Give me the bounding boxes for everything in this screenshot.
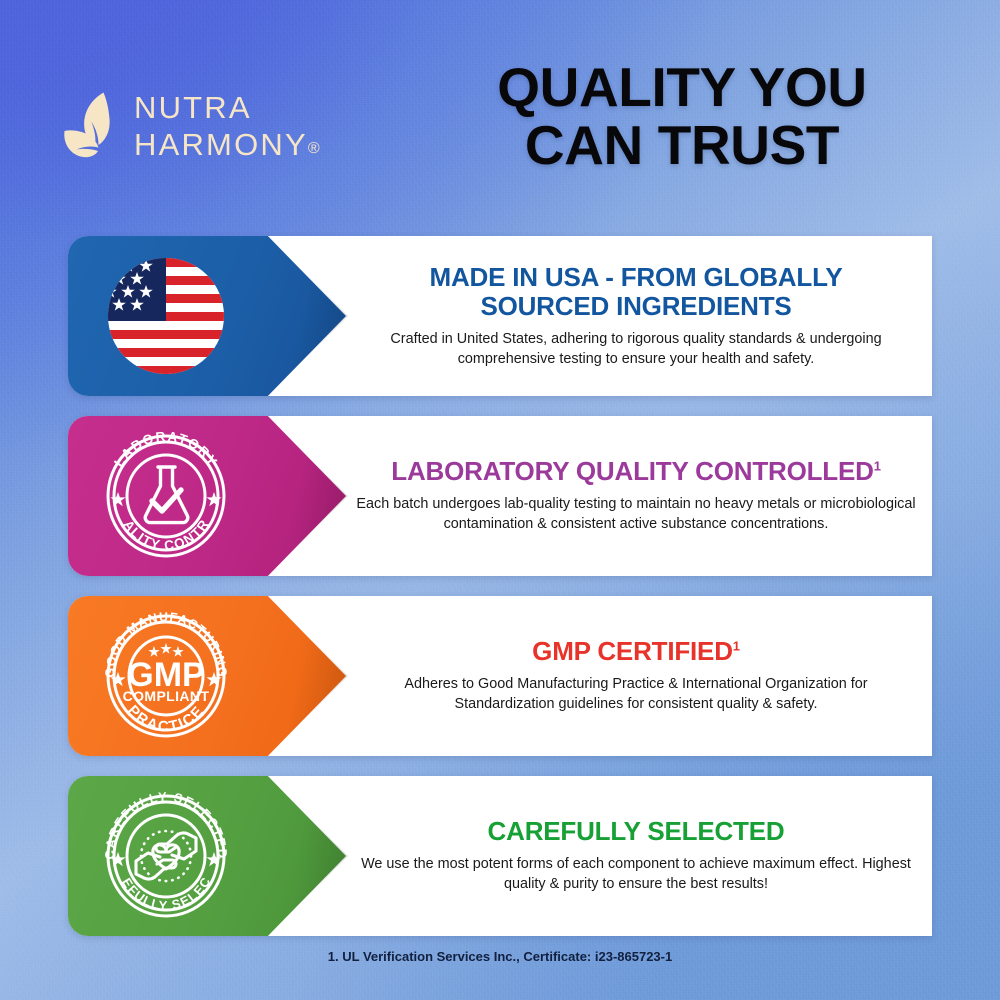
trust-card-made-in-usa: MADE IN USA - FROM GLOBALLY SOURCED INGR…: [0, 236, 1000, 396]
card-description: Each batch undergoes lab-quality testing…: [356, 495, 916, 535]
card-title: CAREFULLY SELECTED: [488, 817, 785, 846]
card-description: We use the most potent forms of each com…: [356, 855, 916, 895]
brand-wordmark: NUTRA HARMONY®: [134, 92, 320, 160]
card-description-line-1: Adheres to Good Manufacturing Practice &…: [404, 676, 867, 692]
header: NUTRA HARMONY® QUALITY YOU CAN TRUST: [0, 0, 1000, 230]
card-title: LABORATORY QUALITY CONTROLLED1: [391, 457, 880, 486]
card-text: GMP CERTIFIED1 Adheres to Good Manufactu…: [352, 596, 920, 756]
card-title-line-1: MADE IN USA - FROM GLOBALLY: [430, 262, 843, 292]
card-description-line-2: comprehensive testing to ensure your hea…: [458, 351, 815, 367]
card-description-line-1: We use the most potent forms of each com…: [361, 856, 858, 872]
card-title: GMP CERTIFIED1: [532, 637, 740, 666]
lab-seal-top-text: LABORATORY: [111, 430, 221, 470]
card-title-line-1: CAREFULLY SELECTED: [488, 816, 785, 846]
card-description: Adheres to Good Manufacturing Practice &…: [356, 675, 916, 715]
card-title: MADE IN USA - FROM GLOBALLY SOURCED INGR…: [430, 263, 843, 321]
brand-line-1: NUTRA: [134, 92, 320, 123]
leaf-icon: [62, 90, 128, 164]
card-description: Crafted in United States, adhering to ri…: [356, 330, 916, 370]
hands-heart-seal-icon: CAREFULLY SELECTED CAREFULLY SELECTED: [96, 790, 236, 922]
card-description-line-1: Crafted in United States, adhering to ri…: [390, 331, 881, 347]
trust-card-carefully-selected: CAREFULLY SELECTED CAREFULLY SELECTED CA…: [0, 776, 1000, 936]
card-title-footnote-marker: 1: [874, 458, 881, 473]
gmp-seal-bottom-text: PRACTICE: [124, 702, 208, 735]
brand-line-2: HARMONY®: [134, 129, 320, 160]
card-title-line-1: LABORATORY QUALITY CONTROLLED: [391, 456, 873, 486]
trust-card-gmp-certified: GMP COMPLIANT GOOD MANUFACTURING PRACTIC…: [0, 596, 1000, 756]
card-text: CAREFULLY SELECTED We use the most poten…: [352, 776, 920, 936]
infographic-page: NUTRA HARMONY® QUALITY YOU CAN TRUST: [0, 0, 1000, 1000]
trust-badge-list: MADE IN USA - FROM GLOBALLY SOURCED INGR…: [0, 236, 1000, 956]
trust-card-laboratory-quality-controlled: LABORATORY QUALITY CONTROL LABORATORY QU…: [0, 416, 1000, 576]
card-text: MADE IN USA - FROM GLOBALLY SOURCED INGR…: [352, 236, 920, 396]
page-title-line-2: CAN TRUST: [400, 116, 964, 174]
footnote-certificate: 1. UL Verification Services Inc., Certif…: [0, 949, 1000, 964]
page-title-line-1: QUALITY YOU: [497, 56, 866, 118]
gmp-compliant-seal-icon: GMP COMPLIANT GOOD MANUFACTURING PRACTIC…: [96, 610, 236, 742]
card-text: LABORATORY QUALITY CONTROLLED1 Each batc…: [352, 416, 920, 576]
lab-flask-seal-icon: LABORATORY QUALITY CONTROL: [96, 430, 236, 562]
card-title-footnote-marker: 1: [733, 638, 740, 653]
brand-line-2-text: HARMONY: [134, 127, 308, 162]
card-description-line-2: Standardization guidelines for consisten…: [455, 696, 818, 712]
page-title: QUALITY YOU CAN TRUST: [400, 58, 964, 175]
registered-trademark-symbol: ®: [308, 140, 320, 157]
card-description-line-1: Each batch undergoes lab-quality testing…: [356, 496, 799, 512]
usa-flag-icon: [96, 250, 236, 382]
gmp-seal-center-subtext: COMPLIANT: [123, 688, 210, 704]
card-title-line-1: GMP CERTIFIED: [532, 636, 733, 666]
card-title-line-2: SOURCED INGREDIENTS: [480, 291, 791, 321]
brand-logo: NUTRA HARMONY®: [62, 78, 372, 174]
